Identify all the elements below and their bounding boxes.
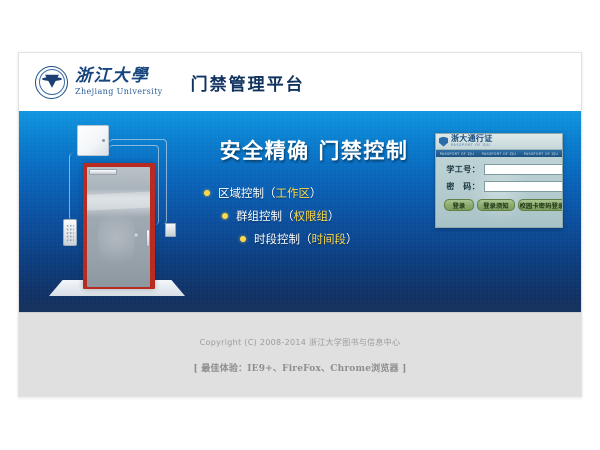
login-form: 学工号： 密 码： 登录 登录须知 校园卡密码登录: [436, 157, 562, 211]
bullet-accent: 权限组: [294, 208, 329, 224]
bullet-tail: ）: [310, 185, 322, 201]
access-control-door-illustration: [41, 119, 191, 301]
logo-wordmark: 浙江大學 Zhejiang University: [75, 68, 163, 96]
logo-text-cn: 浙江大學: [75, 68, 163, 85]
login-button[interactable]: 登录: [444, 199, 474, 211]
bullet-text: 群组控制（: [236, 208, 294, 224]
ribbon-text: PASSPORT OF ZJU: [524, 152, 558, 156]
password-row: 密 码：: [442, 181, 556, 192]
list-item: 区域控制（ 工作区 ）: [204, 185, 424, 201]
feature-bullet-list: 区域控制（ 工作区 ） 群组控制（ 权限组 ） 时段控制（ 时间段 ）: [204, 185, 424, 247]
ribbon-text: PASSPORT OF ZJU: [440, 152, 474, 156]
login-panel: 浙大通行证 PASSPORT OF ZJU PASSPORT OF ZJU PA…: [435, 133, 563, 228]
hero-banner: 安全精确 门禁控制 区域控制（ 工作区 ） 群组控制（ 权限组 ） 时段控制（: [19, 111, 581, 312]
door-handle-icon: [146, 229, 150, 247]
login-panel-titlebar: 浙大通行证 PASSPORT OF ZJU: [436, 134, 562, 150]
card-reader-icon: [165, 223, 176, 237]
bullet-accent: 时间段: [312, 231, 347, 247]
bullet-text: 时段控制（: [254, 231, 312, 247]
logo-text-en: Zhejiang University: [75, 88, 163, 96]
page-frame: 浙江大學 Zhejiang University 门禁管理平台: [18, 52, 582, 397]
login-title-wordmark: 浙大通行证 PASSPORT OF ZJU: [451, 135, 493, 148]
bullet-dot-icon: [204, 190, 210, 196]
login-panel-ribbon: PASSPORT OF ZJU PASSPORT OF ZJU PASSPORT…: [436, 150, 562, 157]
seal-bird-shape: [45, 75, 59, 88]
ribbon-text: PASSPORT OF ZJU: [482, 152, 516, 156]
bullet-tail: ）: [346, 231, 358, 247]
banner-bottom-band: [19, 303, 581, 312]
university-logo[interactable]: 浙江大學 Zhejiang University: [35, 66, 163, 99]
site-footer: Copyright (C) 2008-2014 浙江大学图书与信息中心 [ 最佳…: [19, 312, 581, 397]
password-label: 密 码：: [442, 181, 480, 192]
login-title-en: PASSPORT OF ZJU: [451, 144, 493, 148]
copyright-text: Copyright (C) 2008-2014 浙江大学图书与信息中心: [200, 337, 401, 348]
door-closer-icon: [89, 169, 117, 175]
list-item: 时段控制（ 时间段 ）: [204, 231, 424, 247]
controller-box-icon: [77, 125, 109, 156]
bullet-dot-icon: [240, 236, 246, 242]
bullet-tail: ）: [328, 208, 340, 224]
bullet-text: 区域控制（: [218, 185, 276, 201]
page-title: 门禁管理平台: [191, 70, 305, 95]
bullet-dot-icon: [222, 213, 228, 219]
username-input[interactable]: [484, 164, 563, 175]
login-notice-button[interactable]: 登录须知: [477, 199, 515, 211]
site-header: 浙江大學 Zhejiang University 门禁管理平台: [19, 53, 581, 111]
password-input[interactable]: [484, 181, 563, 192]
browser-support-note: [ 最佳体验：IE9+、FireFox、Chrome浏览器 ]: [193, 361, 406, 374]
username-row: 学工号：: [442, 164, 556, 175]
bullet-accent: 工作区: [276, 185, 311, 201]
banner-text-area: 安全精确 门禁控制 区域控制（ 工作区 ） 群组控制（ 权限组 ） 时段控制（: [204, 135, 424, 254]
login-button-row: 登录 登录须知 校园卡密码登录: [442, 198, 556, 211]
campus-card-login-button[interactable]: 校园卡密码登录: [518, 199, 563, 211]
keypad-reader-icon: [63, 219, 77, 246]
list-item: 群组控制（ 权限组 ）: [204, 208, 424, 224]
door-frame: [83, 163, 155, 289]
login-title-cn: 浙大通行证: [451, 135, 493, 143]
zju-seal-icon: [35, 66, 68, 99]
banner-headline: 安全精确 门禁控制: [204, 135, 424, 165]
door-panel: [87, 167, 150, 287]
shield-icon: [439, 137, 448, 147]
username-label: 学工号：: [442, 164, 480, 175]
